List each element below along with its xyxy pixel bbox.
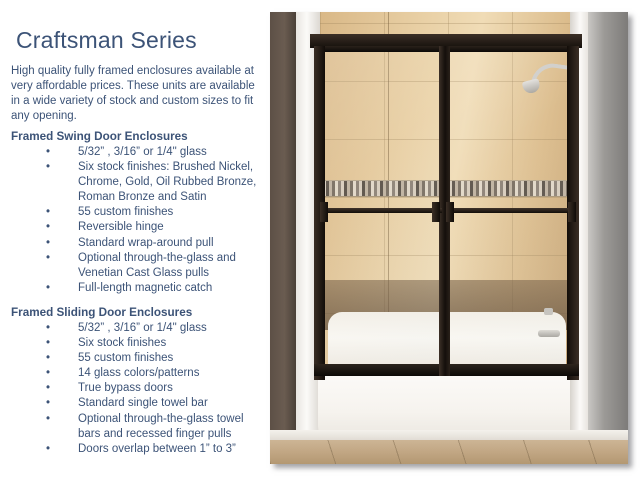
list-item: • 5/32” , 3/16” or 1/4" glass bbox=[11, 321, 267, 336]
tub-spout-icon bbox=[538, 330, 560, 337]
bullet-dot-icon: • bbox=[46, 236, 50, 251]
list-item: • Full-length magnetic catch bbox=[11, 281, 267, 296]
tub-valve-icon bbox=[544, 308, 553, 315]
bullet-dot-icon: • bbox=[46, 336, 50, 351]
section-sliding-doors: Framed Sliding Door Enclosures • 5/32” ,… bbox=[11, 305, 267, 457]
list-item: • True bypass doors bbox=[11, 381, 267, 396]
towel-bar-bracket bbox=[432, 202, 440, 222]
list-item-label: Optional through-the-glass towel bars an… bbox=[78, 413, 244, 440]
list-item: • 5/32” , 3/16” or 1/4" glass bbox=[11, 145, 267, 160]
bullet-dot-icon: • bbox=[46, 251, 50, 266]
towel-bar-bracket bbox=[568, 202, 576, 222]
list-item-label: 5/32” , 3/16” or 1/4" glass bbox=[78, 146, 207, 158]
bullet-dot-icon: • bbox=[46, 381, 50, 396]
bullet-dot-icon: • bbox=[46, 281, 50, 296]
bathroom-wall-right bbox=[588, 12, 628, 452]
bathroom-wall-left bbox=[270, 12, 296, 452]
list-item: • Optional through-the-glass towel bars … bbox=[11, 412, 267, 442]
list-item-label: 14 glass colors/patterns bbox=[78, 367, 199, 379]
towel-bar-right bbox=[446, 208, 576, 213]
list-item: • Standard single towel bar bbox=[11, 396, 267, 411]
feature-list-sliding: • 5/32” , 3/16” or 1/4" glass • Six stoc… bbox=[11, 321, 267, 457]
page-title: Craftsman Series bbox=[16, 27, 197, 54]
bullet-dot-icon: • bbox=[46, 160, 50, 175]
feature-list-swing: • 5/32” , 3/16” or 1/4" glass • Six stoc… bbox=[11, 145, 267, 296]
list-item-label: Standard single towel bar bbox=[78, 397, 208, 409]
towel-bar-bracket bbox=[446, 202, 454, 222]
list-item: • 55 custom finishes bbox=[11, 205, 267, 220]
list-item: • Standard wrap-around pull bbox=[11, 236, 267, 251]
towel-bar-bracket bbox=[320, 202, 328, 222]
list-item-label: 55 custom finishes bbox=[78, 206, 173, 218]
shower-enclosure-image bbox=[270, 12, 628, 464]
section-swing-doors: Framed Swing Door Enclosures • 5/32” , 3… bbox=[11, 129, 267, 296]
list-item-label: Six stock finishes bbox=[78, 337, 166, 349]
list-item: • 55 custom finishes bbox=[11, 351, 267, 366]
bullet-dot-icon: • bbox=[46, 351, 50, 366]
list-item-label: Doors overlap between 1” to 3” bbox=[78, 443, 236, 455]
bullet-dot-icon: • bbox=[46, 145, 50, 160]
bullet-dot-icon: • bbox=[46, 220, 50, 235]
list-item-label: Optional through-the-glass and Venetian … bbox=[78, 252, 236, 279]
list-item: • Reversible hinge bbox=[11, 220, 267, 235]
bullet-dot-icon: • bbox=[46, 442, 50, 457]
list-item-label: 55 custom finishes bbox=[78, 352, 173, 364]
bullet-dot-icon: • bbox=[46, 321, 50, 336]
section-heading: Framed Swing Door Enclosures bbox=[11, 129, 267, 144]
list-item-label: Standard wrap-around pull bbox=[78, 237, 214, 249]
section-heading: Framed Sliding Door Enclosures bbox=[11, 305, 267, 320]
product-photo bbox=[270, 12, 628, 464]
list-item: • Six stock finishes bbox=[11, 336, 267, 351]
list-item-label: Full-length magnetic catch bbox=[78, 282, 212, 294]
list-item: • Doors overlap between 1” to 3” bbox=[11, 442, 267, 457]
text-column: Craftsman Series High quality fully fram… bbox=[0, 0, 268, 480]
towel-bar-left bbox=[320, 208, 442, 213]
tile-floor bbox=[270, 440, 628, 464]
list-item: • Optional through-the-glass and Venetia… bbox=[11, 251, 267, 281]
list-item: • Six stock finishes: Brushed Nickel, Ch… bbox=[11, 160, 267, 205]
bullet-dot-icon: • bbox=[46, 205, 50, 220]
bullet-dot-icon: • bbox=[46, 366, 50, 381]
list-item-label: Six stock finishes: Brushed Nickel, Chro… bbox=[78, 161, 256, 203]
wall-corner-seam bbox=[388, 12, 389, 312]
list-item-label: True bypass doors bbox=[78, 382, 173, 394]
list-item: • 14 glass colors/patterns bbox=[11, 366, 267, 381]
slide-canvas: Craftsman Series High quality fully fram… bbox=[0, 0, 640, 480]
intro-paragraph: High quality fully framed enclosures ava… bbox=[11, 64, 261, 125]
bullet-dot-icon: • bbox=[46, 412, 50, 427]
bullet-dot-icon: • bbox=[46, 396, 50, 411]
list-item-label: 5/32” , 3/16” or 1/4" glass bbox=[78, 322, 207, 334]
list-item-label: Reversible hinge bbox=[78, 221, 164, 233]
